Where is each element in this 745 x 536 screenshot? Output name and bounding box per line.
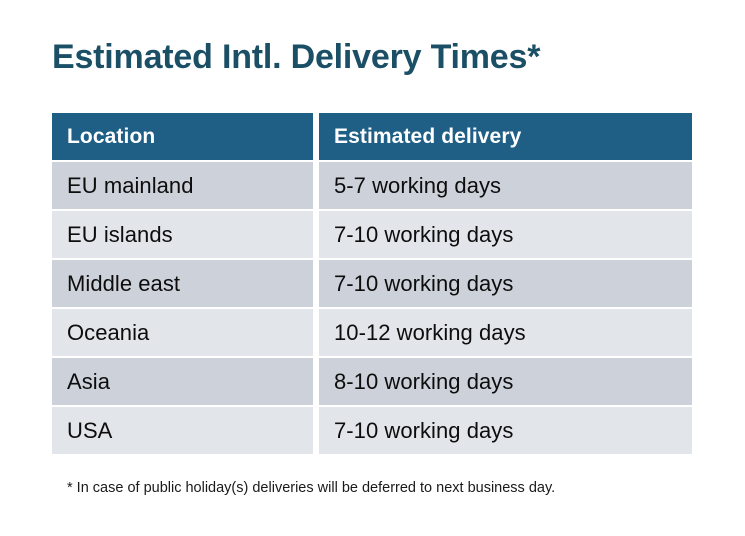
table-cell-location: EU islands <box>52 211 313 258</box>
table-cell-delivery: 5-7 working days <box>319 162 692 209</box>
table-header-cell-delivery: Estimated delivery <box>319 113 692 160</box>
page-title: Estimated Intl. Delivery Times* <box>52 36 540 78</box>
table-row: USA 7-10 working days <box>52 407 692 454</box>
table-cell-location-text: Middle east <box>67 271 180 297</box>
table-cell-delivery-text: 8-10 working days <box>334 369 513 395</box>
table-row: Oceania 10-12 working days <box>52 309 692 356</box>
footnote-text: * In case of public holiday(s) deliverie… <box>67 478 555 498</box>
table-cell-delivery: 7-10 working days <box>319 260 692 307</box>
table-cell-delivery-text: 7-10 working days <box>334 222 513 248</box>
table-cell-location: EU mainland <box>52 162 313 209</box>
table-cell-location-text: EU mainland <box>67 173 194 199</box>
table-cell-location-text: Oceania <box>67 320 149 346</box>
table-cell-delivery-text: 5-7 working days <box>334 173 501 199</box>
table-row: EU mainland 5-7 working days <box>52 162 692 209</box>
table-cell-delivery: 7-10 working days <box>319 407 692 454</box>
table-cell-location-text: Asia <box>67 369 110 395</box>
delivery-times-table: Location Estimated delivery EU mainland … <box>52 113 692 454</box>
table-cell-delivery-text: 7-10 working days <box>334 271 513 297</box>
table-header-row: Location Estimated delivery <box>52 113 692 160</box>
delivery-times-card: Estimated Intl. Delivery Times* Location… <box>0 0 745 536</box>
table-row: Middle east 7-10 working days <box>52 260 692 307</box>
table-row: EU islands 7-10 working days <box>52 211 692 258</box>
table-header-cell-location: Location <box>52 113 313 160</box>
table-cell-location: Middle east <box>52 260 313 307</box>
table-cell-delivery: 8-10 working days <box>319 358 692 405</box>
table-cell-location: Oceania <box>52 309 313 356</box>
table-cell-delivery: 7-10 working days <box>319 211 692 258</box>
table-cell-location: USA <box>52 407 313 454</box>
table-cell-delivery: 10-12 working days <box>319 309 692 356</box>
table-cell-location-text: USA <box>67 418 112 444</box>
table-cell-location: Asia <box>52 358 313 405</box>
table-header-label-location: Location <box>67 125 155 149</box>
table-cell-delivery-text: 10-12 working days <box>334 320 526 346</box>
table-cell-location-text: EU islands <box>67 222 173 248</box>
table-header-label-delivery: Estimated delivery <box>334 125 521 149</box>
table-cell-delivery-text: 7-10 working days <box>334 418 513 444</box>
table-row: Asia 8-10 working days <box>52 358 692 405</box>
